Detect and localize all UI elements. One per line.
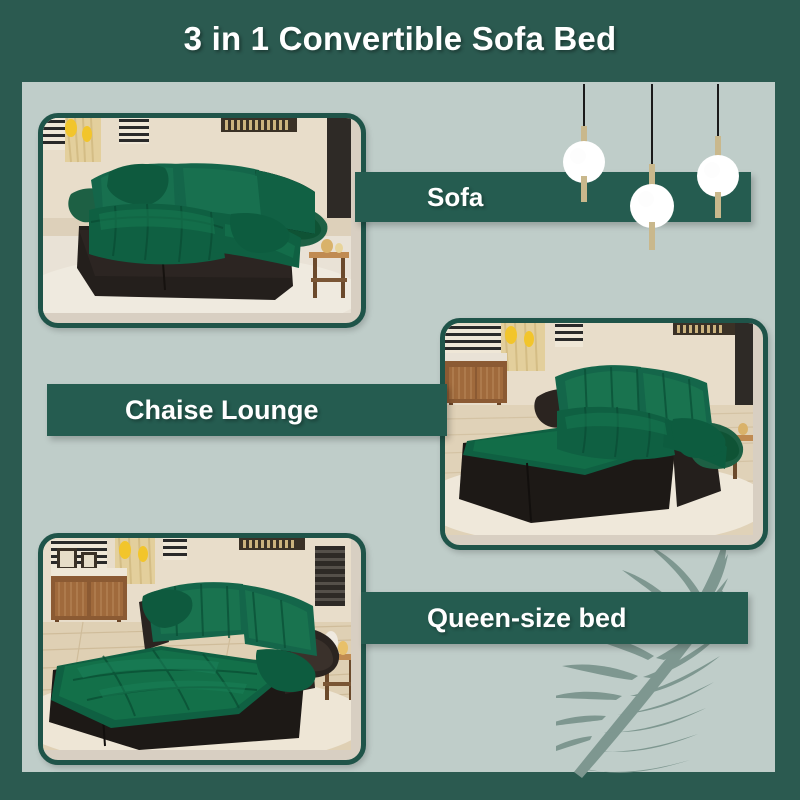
feature-label-bed-text: Queen-size bed [427, 603, 627, 634]
feature-label-chaise-text: Chaise Lounge [125, 395, 319, 426]
feature-label-sofa-text: Sofa [427, 182, 483, 213]
infographic-root: 3 in 1 Convertible Sofa Bed [0, 0, 800, 800]
page-title: 3 in 1 Convertible Sofa Bed [0, 20, 800, 58]
feature-label-sofa: Sofa [355, 172, 751, 222]
product-photo-bed [38, 533, 366, 765]
product-photo-chaise [440, 318, 768, 550]
feature-label-bed: Queen-size bed [361, 592, 748, 644]
feature-label-chaise: Chaise Lounge [47, 384, 447, 436]
product-photo-sofa [38, 113, 366, 328]
